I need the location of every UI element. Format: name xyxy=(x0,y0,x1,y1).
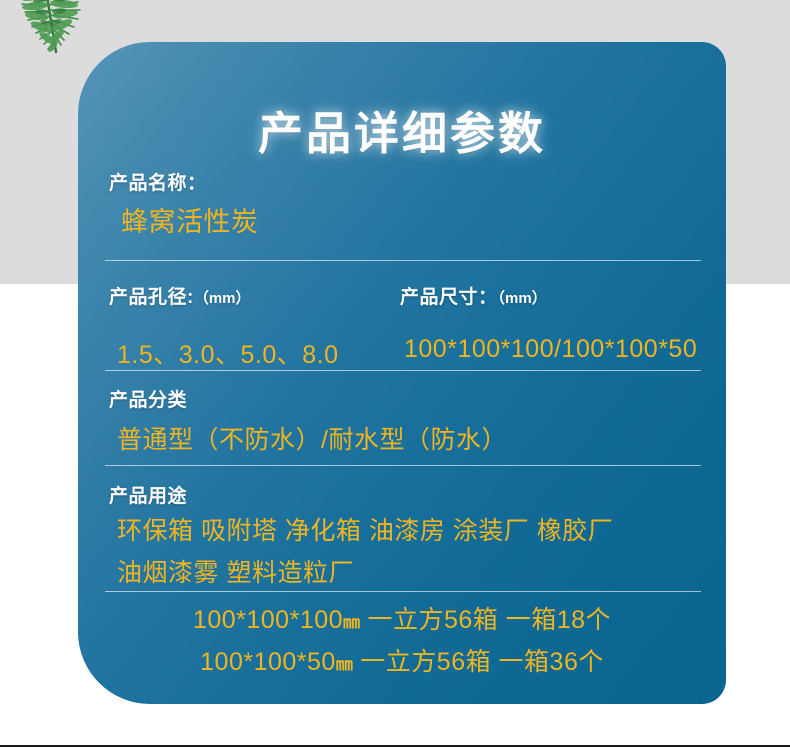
divider-2 xyxy=(105,370,701,371)
packing-line-2: 100*100*50㎜ 一立方56箱 一箱36个 xyxy=(78,642,726,678)
product-name-value: 蜂窝活性炭 xyxy=(121,200,259,239)
page-title: 产品详细参数 xyxy=(78,97,726,162)
packing-line-2-text: 一立方56箱 一箱36个 xyxy=(353,648,604,676)
dimensions-value: 100*100*100/100*100*50 xyxy=(404,335,697,364)
dimensions-unit: （mm） xyxy=(498,290,547,307)
packing-line-1-text: 一立方56箱 一箱18个 xyxy=(360,606,611,634)
divider-3 xyxy=(105,465,701,466)
applications-label: 产品用途 xyxy=(109,481,187,508)
packing-line-1-unit: ㎜ xyxy=(343,613,360,632)
packing-line-1: 100*100*100㎜ 一立方56箱 一箱18个 xyxy=(78,600,726,636)
dimensions-label-text: 产品尺寸： xyxy=(400,287,498,308)
applications-line-1: 环保箱 吸附塔 净化箱 油漆房 涂装厂 橡胶厂 xyxy=(117,511,613,547)
classification-value: 普通型（不防水）/耐水型（防水） xyxy=(117,420,507,456)
dimensions-label: 产品尺寸：（mm） xyxy=(400,282,547,309)
packing-line-1-size: 100*100*100 xyxy=(193,606,343,634)
pore-size-label: 产品孔径:（mm） xyxy=(109,282,251,309)
packing-line-2-size: 100*100*50 xyxy=(200,648,336,676)
divider-1 xyxy=(105,260,701,261)
pore-size-value: 1.5、3.0、5.0、8.0 xyxy=(117,335,339,371)
applications-line-2: 油烟漆雾 塑料造粒厂 xyxy=(117,553,354,589)
packing-line-2-unit: ㎜ xyxy=(336,655,353,674)
product-spec-page: 产品详细参数 产品名称： 蜂窝活性炭 产品孔径:（mm） 产品尺寸：（mm） 1… xyxy=(0,0,790,747)
product-spec-card: 产品详细参数 产品名称： 蜂窝活性炭 产品孔径:（mm） 产品尺寸：（mm） 1… xyxy=(78,42,726,704)
product-name-label: 产品名称： xyxy=(109,168,207,195)
divider-4 xyxy=(105,591,701,592)
pore-size-unit: （mm） xyxy=(194,290,251,307)
pore-size-label-text: 产品孔径: xyxy=(109,287,194,308)
classification-label: 产品分类 xyxy=(109,385,187,412)
